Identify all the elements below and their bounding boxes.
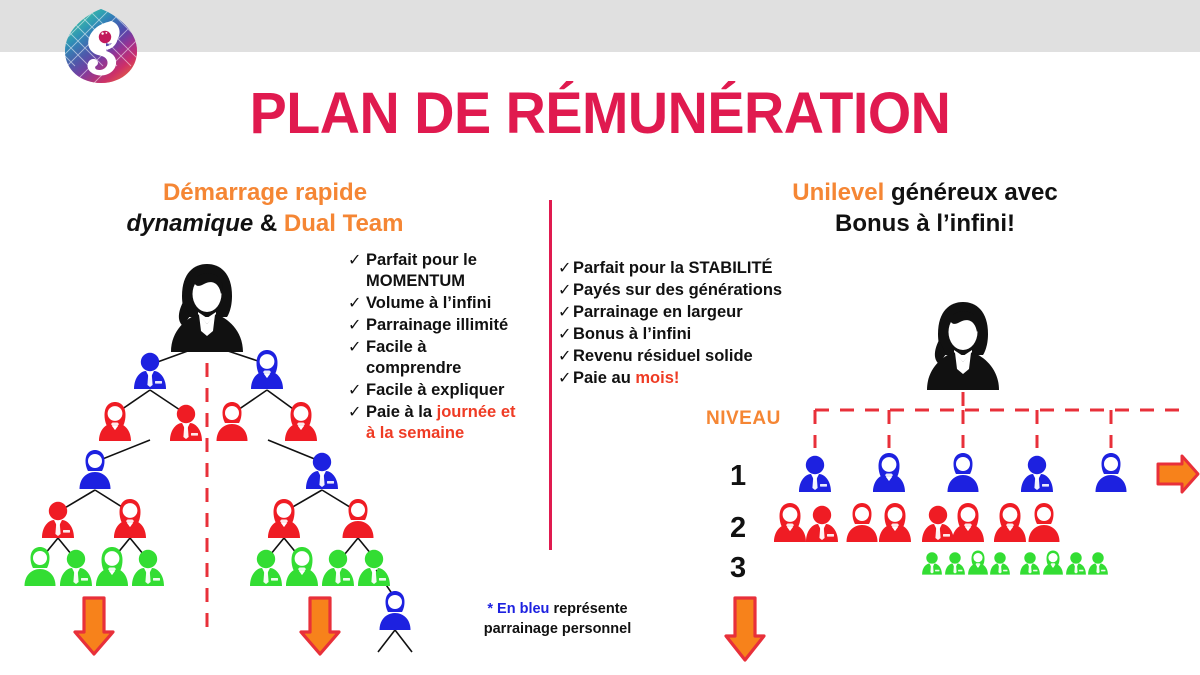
right-tree-root-avatar (927, 302, 999, 390)
arrow-down-right (726, 598, 764, 660)
right-tree-connectors (815, 392, 1190, 448)
left-tree-level6 (380, 591, 411, 630)
slide-canvas: PLAN DE RÉMUNÉRATION Démarrage rapide dy… (0, 0, 1200, 675)
arrow-down-left-2 (301, 598, 339, 654)
arrow-down-left (75, 598, 113, 654)
right-tree-level1 (799, 453, 1127, 492)
right-tree-level3 (922, 551, 1108, 575)
genealogy-diagram (0, 0, 1200, 675)
left-tree-root-avatar (171, 264, 243, 352)
arrow-right (1158, 456, 1198, 492)
right-tree-level2 (774, 503, 1060, 542)
left-tree-level3 (80, 450, 339, 489)
